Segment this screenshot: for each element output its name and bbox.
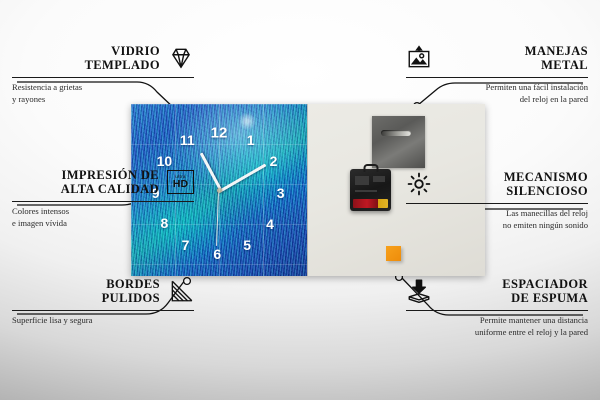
- clock-number-5: 5: [243, 238, 251, 252]
- feature-impresion-alta-calidad: IMPRESIÓN DE ALTA CALIDAD ultra HD Color…: [12, 168, 194, 229]
- mechanism-detail-3: [355, 190, 377, 192]
- clock-number-2: 2: [270, 154, 278, 168]
- feature-mecanismo-silencioso: MECANISMO SILENCIOSO Las manecillas del …: [406, 170, 588, 231]
- feature-title-line1: ESPACIADOR: [440, 277, 588, 291]
- feature-divider: [12, 201, 194, 202]
- feature-desc-line1: Permiten una fácil instalación: [406, 82, 588, 94]
- mechanism-hanging-tab: [363, 164, 378, 172]
- feature-title-line2: ALTA CALIDAD: [61, 182, 159, 196]
- clock-number-1: 1: [247, 133, 255, 147]
- feature-desc-line1: Colores intensos: [12, 206, 194, 218]
- foam-spacer-icon: [406, 278, 432, 304]
- clock-second-hand: [216, 190, 219, 246]
- clock-mechanism: [350, 169, 391, 211]
- gear-icon: [406, 171, 432, 197]
- clock-number-6: 6: [213, 247, 221, 261]
- clock-number-11: 11: [180, 133, 195, 147]
- feature-desc-line1: Las manecillas del reloj: [406, 208, 588, 220]
- diamond-icon: [168, 45, 194, 71]
- feature-divider: [12, 310, 194, 311]
- clock-hour-hand: [200, 152, 222, 190]
- feature-divider: [406, 203, 588, 204]
- feature-title-line2: PULIDOS: [102, 291, 160, 305]
- feature-desc-line2: no emiten ningún sonido: [406, 220, 588, 232]
- feature-espaciador-espuma: ESPACIADOR DE ESPUMA Permite mantener un…: [406, 277, 588, 338]
- feature-title-line1: VIDRIO: [85, 44, 160, 58]
- picture-hanger-icon: [406, 45, 432, 71]
- mechanism-detail-2: [373, 176, 385, 182]
- polished-edge-icon: [168, 278, 194, 304]
- ultra-hd-badge-icon: ultra HD: [167, 170, 194, 194]
- clock-center-cap: [217, 188, 222, 193]
- hd-badge-large-text: HD: [173, 179, 189, 190]
- feature-title-line1: MECANISMO: [440, 170, 588, 184]
- feature-bordes-pulidos: BORDES PULIDOS Superficie lisa y segura: [12, 277, 194, 327]
- feature-title-line2: METAL: [440, 58, 588, 72]
- feature-desc-line1: Permite mantener una distancia: [406, 315, 588, 327]
- feature-title-line1: MANEJAS: [440, 44, 588, 58]
- clock-number-10: 10: [157, 154, 173, 168]
- feature-title-line2: SILENCIOSO: [440, 184, 588, 198]
- feature-divider: [12, 77, 194, 78]
- metal-hanger-plate: [372, 116, 425, 168]
- feature-desc-line2: del reloj en la pared: [406, 94, 588, 106]
- feature-divider: [406, 77, 588, 78]
- mechanism-detail-1: [355, 176, 369, 185]
- clock-number-7: 7: [182, 238, 190, 252]
- clock-number-12: 12: [211, 126, 228, 141]
- clock-minute-hand: [219, 164, 267, 193]
- feature-divider: [406, 310, 588, 311]
- feature-desc-line2: e imagen vívida: [12, 218, 194, 230]
- feature-title-line1: IMPRESIÓN DE: [61, 168, 159, 182]
- feature-title-line2: TEMPLADO: [85, 58, 160, 72]
- clock-number-4: 4: [266, 217, 274, 231]
- mechanism-battery-label: [353, 199, 388, 208]
- clock-number-3: 3: [277, 186, 285, 200]
- feature-title-line2: DE ESPUMA: [440, 291, 588, 305]
- feature-manejas-metal: MANEJAS METAL Permiten una fácil instala…: [406, 44, 588, 105]
- hanger-keyhole-slot: [381, 130, 411, 136]
- feature-desc-line2: y rayones: [12, 94, 194, 106]
- feature-vidrio-templado: VIDRIO TEMPLADO Resistencia a grietas y …: [12, 44, 194, 105]
- feature-desc-line1: Resistencia a grietas: [12, 82, 194, 94]
- feature-desc-line2: uniforme entre el reloj y la pared: [406, 327, 588, 339]
- feature-desc-line1: Superficie lisa y segura: [12, 315, 194, 327]
- infographic-canvas: 12 1 2 3 4 5 6 7 8 9 10 11: [0, 0, 600, 400]
- feature-title-line1: BORDES: [102, 277, 160, 291]
- foam-spacer: [386, 246, 401, 261]
